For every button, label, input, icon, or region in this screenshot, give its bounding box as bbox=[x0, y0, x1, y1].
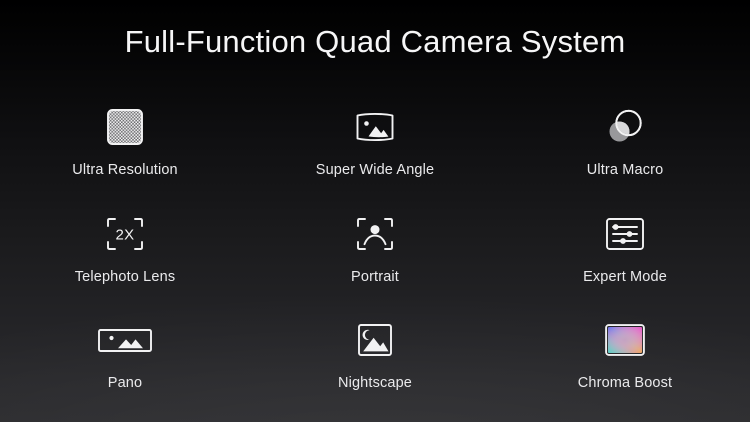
feature-label: Chroma Boost bbox=[578, 375, 672, 391]
color-spectrum-icon bbox=[593, 314, 657, 366]
feature-grid: Ultra Resolution Super Wide Angle bbox=[0, 92, 750, 412]
telephoto-focus-frame-icon: 2X bbox=[93, 208, 157, 260]
feature-item-telephoto-lens[interactable]: 2X Telephoto Lens bbox=[0, 199, 250, 306]
feature-label: Nightscape bbox=[338, 375, 412, 391]
feature-item-chroma-boost[interactable]: Chroma Boost bbox=[500, 305, 750, 412]
feature-label: Ultra Macro bbox=[587, 162, 664, 178]
feature-item-super-wide-angle[interactable]: Super Wide Angle bbox=[250, 92, 500, 199]
feature-item-portrait[interactable]: Portrait bbox=[250, 199, 500, 306]
checkerboard-grid-icon bbox=[93, 101, 157, 153]
wide-angle-landscape-icon bbox=[343, 101, 407, 153]
moon-mountains-icon bbox=[343, 314, 407, 366]
panorama-landscape-icon bbox=[93, 314, 157, 366]
feature-item-ultra-macro[interactable]: Ultra Macro bbox=[500, 92, 750, 199]
zoom-level-text: 2X bbox=[116, 226, 135, 243]
macro-overlapping-circles-icon bbox=[593, 101, 657, 153]
feature-item-ultra-resolution[interactable]: Ultra Resolution bbox=[0, 92, 250, 199]
feature-item-expert-mode[interactable]: Expert Mode bbox=[500, 199, 750, 306]
feature-item-pano[interactable]: Pano bbox=[0, 305, 250, 412]
page-title: Full-Function Quad Camera System bbox=[0, 22, 750, 62]
feature-item-nightscape[interactable]: Nightscape bbox=[250, 305, 500, 412]
sliders-panel-icon bbox=[593, 208, 657, 260]
feature-label: Pano bbox=[108, 375, 142, 391]
portrait-person-frame-icon bbox=[343, 208, 407, 260]
feature-label: Super Wide Angle bbox=[316, 162, 434, 178]
camera-features-slide: Full-Function Quad Camera System bbox=[0, 0, 750, 422]
feature-label: Ultra Resolution bbox=[72, 162, 178, 178]
feature-label: Telephoto Lens bbox=[75, 269, 175, 285]
feature-label: Portrait bbox=[351, 269, 399, 285]
feature-label: Expert Mode bbox=[583, 269, 667, 285]
